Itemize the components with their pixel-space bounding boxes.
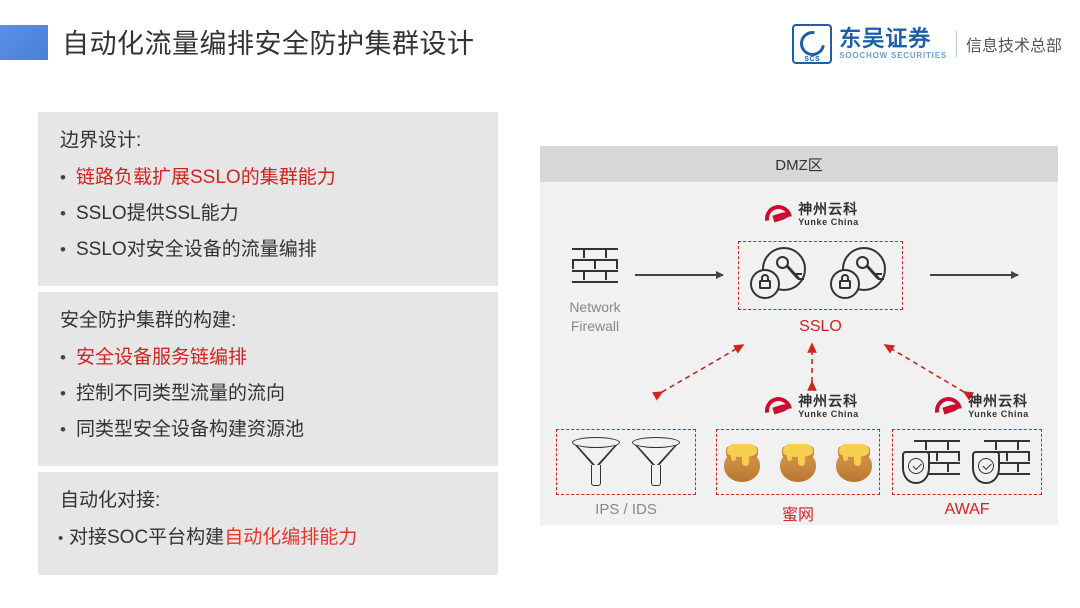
bullet-dot-icon: • xyxy=(60,162,76,194)
ips-ids-label: IPS / IDS xyxy=(556,501,696,518)
brand-divider xyxy=(956,31,957,57)
bullet-dot-icon: • xyxy=(60,414,76,446)
sslo-node[interactable] xyxy=(738,241,903,310)
bullet-dot-icon: • xyxy=(60,342,76,374)
panel-heading: 边界设计: xyxy=(60,126,498,156)
funnel-icon xyxy=(572,437,620,487)
sslo-to-ips-connector xyxy=(662,345,743,392)
bullet-text: SSLO对安全设备的流量编排 xyxy=(76,234,317,266)
bullet-panel-list: 边界设计: • 链路负载扩展SSLO的集群能力 • SSLO提供SSL能力 • … xyxy=(38,112,498,581)
bullet-text: 安全设备服务链编排 xyxy=(76,342,247,374)
bullet-text: 控制不同类型流量的流向 xyxy=(76,378,285,410)
brand-name-cn: 东吴证券 xyxy=(839,28,947,50)
page-header: 自动化流量编排安全防护集群设计 SCS 东吴证券 SOOCHOW SECURIT… xyxy=(0,0,1080,92)
vendor-name-en: Yunke China xyxy=(968,410,1029,419)
bullet-dot-icon: • xyxy=(58,523,69,555)
honeynet-node[interactable] xyxy=(716,429,880,495)
page-title: 自动化流量编排安全防护集群设计 xyxy=(62,22,475,61)
vendor-name-en: Yunke China xyxy=(798,410,859,419)
bullet-dot-icon: • xyxy=(60,378,76,410)
list-item: • 控制不同类型流量的流向 xyxy=(60,378,498,410)
firewall-label: Network Firewall xyxy=(563,298,627,336)
key-lock-icon xyxy=(830,247,892,305)
bullet-panel: 自动化对接: • 对接SOC平台构建自动化编排能力 xyxy=(38,472,498,575)
firewall-node xyxy=(563,246,627,286)
awaf-label: AWAF xyxy=(892,501,1042,519)
soochow-securities-logo-icon: SCS xyxy=(792,24,832,64)
list-item: • 对接SOC平台构建自动化编排能力 xyxy=(58,522,498,555)
bullet-dot-icon: • xyxy=(60,198,76,230)
yunke-mark-shape xyxy=(933,396,963,418)
panel-heading: 自动化对接: xyxy=(60,486,498,516)
bullet-text: 链路负载扩展SSLO的集群能力 xyxy=(76,162,336,194)
funnel-icon xyxy=(632,437,680,487)
vendor-name-cn: 神州云科 xyxy=(968,394,1029,408)
ingress-arrow-icon xyxy=(635,274,723,276)
vendor-name-cn: 神州云科 xyxy=(798,394,859,408)
bullet-text-highlight: 自动化编排能力 xyxy=(224,522,357,554)
brick-wall-icon xyxy=(572,248,618,284)
dmz-architecture-diagram: DMZ区 xyxy=(540,146,1058,525)
ips-ids-node[interactable] xyxy=(556,429,696,495)
shield-wall-icon xyxy=(972,438,1032,486)
honeynet-label: 蜜网 xyxy=(716,501,880,525)
yunke-china-logo-icon: 神州云科 Yunke China xyxy=(906,394,1056,419)
egress-arrow-icon xyxy=(930,274,1018,276)
shield-check-shape xyxy=(902,451,930,484)
yunke-china-logo-icon: 神州云科 Yunke China xyxy=(736,394,886,419)
panel-heading: 安全防护集群的构建: xyxy=(60,306,498,336)
yunke-mark-shape xyxy=(763,396,793,418)
bullet-panel: 边界设计: • 链路负载扩展SSLO的集群能力 • SSLO提供SSL能力 • … xyxy=(38,112,498,286)
vendor-name-cn: 神州云科 xyxy=(798,202,859,216)
vendor-name-en: Yunke China xyxy=(798,218,859,227)
bullet-panel: 安全防护集群的构建: • 安全设备服务链编排 • 控制不同类型流量的流向 • 同… xyxy=(38,292,498,466)
title-accent-bar xyxy=(0,25,48,60)
list-item: • SSLO提供SSL能力 xyxy=(60,198,498,230)
list-item: • SSLO对安全设备的流量编排 xyxy=(60,234,498,266)
yunke-mark-shape xyxy=(763,204,793,226)
list-item: • 同类型安全设备构建资源池 xyxy=(60,414,498,446)
brand-name-en: SOOCHOW SECURITIES xyxy=(839,50,947,61)
honey-pot-icon xyxy=(722,441,762,483)
brand-name-block: 东吴证券 SOOCHOW SECURITIES xyxy=(839,28,947,61)
bullet-text: 对接SOC平台构建 xyxy=(69,522,224,554)
awaf-node[interactable] xyxy=(892,429,1042,495)
dmz-zone-title: DMZ区 xyxy=(775,154,823,175)
brand-lockup: SCS 东吴证券 SOOCHOW SECURITIES 信息技术总部 xyxy=(792,25,1062,63)
list-item: • 安全设备服务链编排 xyxy=(60,342,498,374)
honey-pot-icon xyxy=(834,441,874,483)
bullet-dot-icon: • xyxy=(60,234,76,266)
key-lock-icon xyxy=(750,247,812,305)
brand-department: 信息技术总部 xyxy=(966,32,1062,56)
yunke-china-logo-icon: 神州云科 Yunke China xyxy=(736,202,886,227)
shield-check-shape xyxy=(972,451,1000,484)
bullet-text: 同类型安全设备构建资源池 xyxy=(76,414,304,446)
shield-wall-icon xyxy=(902,438,962,486)
brand-mark-text: SCS xyxy=(794,56,830,63)
sslo-label: SSLO xyxy=(738,318,903,336)
sslo-to-awaf-connector xyxy=(885,345,964,392)
bullet-text: SSLO提供SSL能力 xyxy=(76,198,239,230)
dmz-zone-header: DMZ区 xyxy=(540,146,1058,182)
list-item: • 链路负载扩展SSLO的集群能力 xyxy=(60,162,498,194)
honey-pot-icon xyxy=(778,441,818,483)
